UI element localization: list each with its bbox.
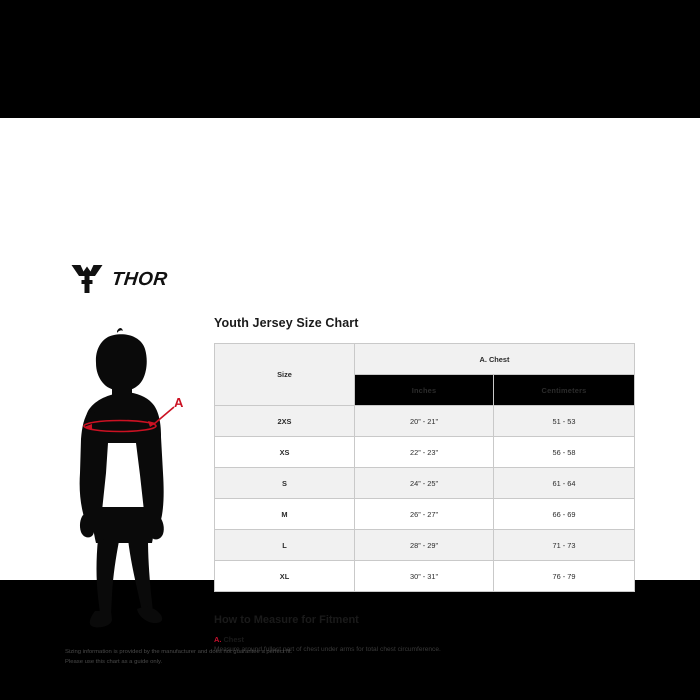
table-row: M 26” - 27” 66 - 69 xyxy=(215,499,635,530)
thor-bolt-icon xyxy=(70,264,104,299)
table-body: 2XS 20” - 21” 51 - 53 XS 22” - 23” 56 - … xyxy=(215,406,635,592)
svg-text:THOR: THOR xyxy=(113,269,169,290)
cell-size: S xyxy=(215,468,355,499)
page-title: Youth Jersey Size Chart xyxy=(214,316,634,331)
cell-centimeters: 66 - 69 xyxy=(494,499,635,530)
cell-size: 2XS xyxy=(215,406,355,437)
letterbox-bar-top xyxy=(0,0,700,118)
table-header-row: Size A. Chest xyxy=(215,344,635,375)
measure-key: A. xyxy=(214,635,221,644)
chart-content: Youth Jersey Size Chart Size A. Chest In… xyxy=(214,316,634,655)
measure-item-label: A. Chest xyxy=(214,635,634,644)
size-chart-panel: THOR xyxy=(0,118,700,580)
table-row: L 28” - 29” 71 - 73 xyxy=(215,530,635,561)
measurement-figure: A xyxy=(62,323,207,633)
cell-inches: 22” - 23” xyxy=(355,437,494,468)
callout-label: A xyxy=(174,395,184,410)
table-row: XS 22” - 23” 56 - 58 xyxy=(215,437,635,468)
cell-centimeters: 51 - 53 xyxy=(494,406,635,437)
header-centimeters: Centimeters xyxy=(494,375,635,406)
cell-size: XL xyxy=(215,561,355,592)
screenshot-root: THOR xyxy=(0,0,700,700)
header-size: Size xyxy=(215,344,355,406)
brand-logo: THOR xyxy=(70,264,189,299)
disclaimer-line-2: Please use this chart as a guide only. xyxy=(65,657,485,667)
cell-size: XS xyxy=(215,437,355,468)
table-row: 2XS 20” - 21” 51 - 53 xyxy=(215,406,635,437)
cell-centimeters: 76 - 79 xyxy=(494,561,635,592)
cell-centimeters: 56 - 58 xyxy=(494,437,635,468)
cell-inches: 24” - 25” xyxy=(355,468,494,499)
cell-inches: 26” - 27” xyxy=(355,499,494,530)
cell-size: M xyxy=(215,499,355,530)
measure-name: Chest xyxy=(223,635,244,644)
header-chest-group: A. Chest xyxy=(355,344,635,375)
brand-wordmark: THOR xyxy=(113,268,189,295)
table-row: XL 30” - 31” 76 - 79 xyxy=(215,561,635,592)
table-row: S 24” - 25” 61 - 64 xyxy=(215,468,635,499)
cell-centimeters: 71 - 73 xyxy=(494,530,635,561)
cell-size: L xyxy=(215,530,355,561)
disclaimer-text: Sizing information is provided by the ma… xyxy=(65,647,485,668)
cell-inches: 28” - 29” xyxy=(355,530,494,561)
cell-inches: 20” - 21” xyxy=(355,406,494,437)
cell-inches: 30” - 31” xyxy=(355,561,494,592)
header-inches: Inches xyxy=(355,375,494,406)
disclaimer-line-1: Sizing information is provided by the ma… xyxy=(65,647,485,657)
how-to-measure-title: How to Measure for Fitment xyxy=(214,614,634,626)
size-chart-table: Size A. Chest Inches Centimeters 2XS 20”… xyxy=(214,343,635,592)
cell-centimeters: 61 - 64 xyxy=(494,468,635,499)
body-silhouette xyxy=(80,328,164,627)
